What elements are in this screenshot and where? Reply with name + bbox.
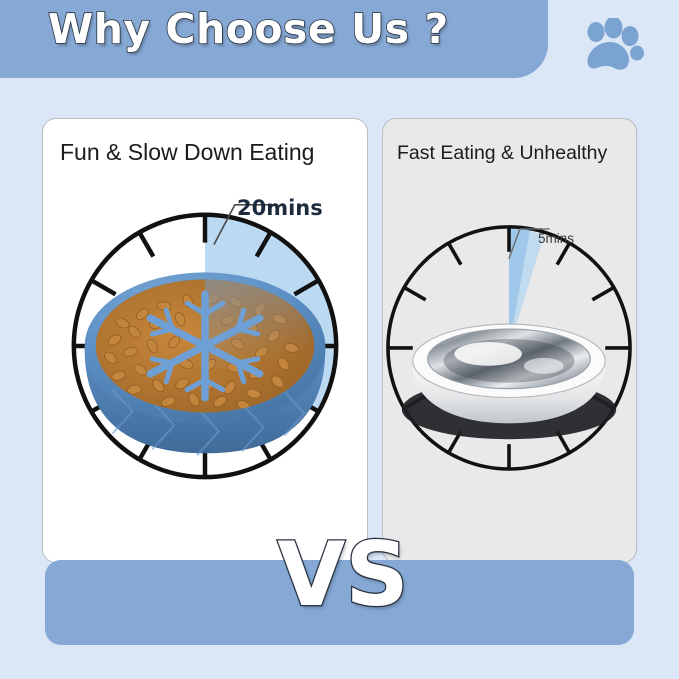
comparison-card-ours: Fun & Slow Down Eating (42, 118, 368, 563)
comparison-cards: Fun & Slow Down Eating (0, 118, 679, 568)
stainless-steel-ordinary-bowl-icon (402, 324, 616, 439)
time-label-ours: 20mins (237, 196, 323, 220)
ordinary-bowl-illustration (383, 119, 636, 562)
slow-feeder-illustration (43, 119, 367, 562)
comparison-card-other: Fast Eating & Unhealthy (382, 118, 637, 563)
paw-print-icon (583, 18, 645, 76)
versus-label: VS (273, 531, 413, 619)
infographic-page: Why Choose Us ? Fun & Slow Down Eating (0, 0, 679, 679)
page-title: Why Choose Us ? (48, 5, 449, 53)
blue-slow-feeder-bowl-with-kibble-icon (85, 272, 326, 455)
time-label-other: 5mins (538, 231, 574, 246)
